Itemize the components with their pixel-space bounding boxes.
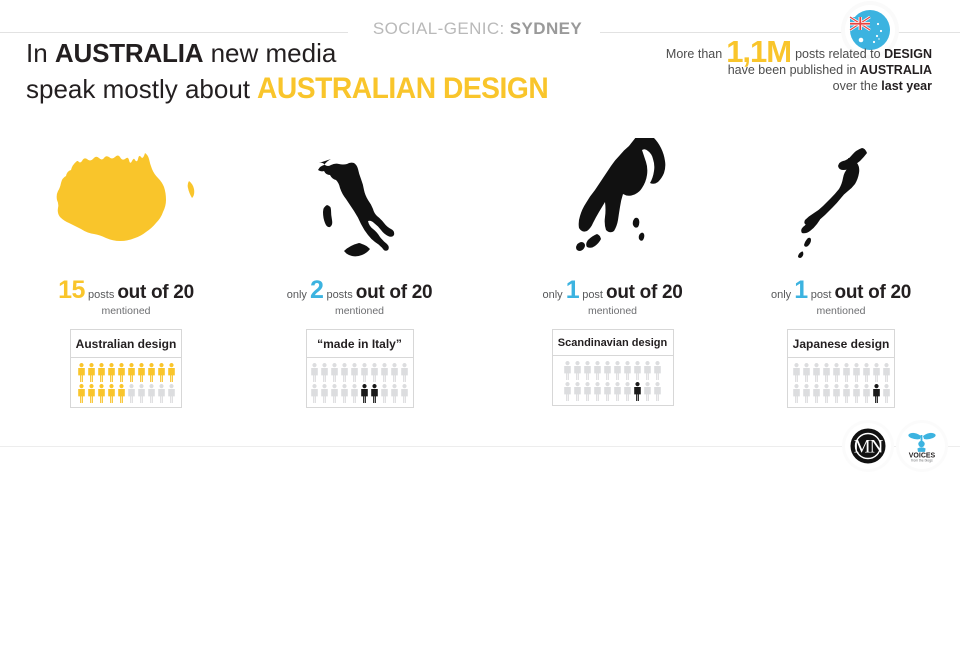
person-icon-highlighted <box>107 384 116 403</box>
person-icon <box>573 382 582 401</box>
person-icon <box>832 363 841 382</box>
person-icon <box>842 384 851 403</box>
person-icon <box>802 363 811 382</box>
pictogram-row <box>563 361 662 380</box>
pictogram-row <box>310 384 409 403</box>
only-label: only <box>771 289 794 301</box>
pictogram-grid <box>71 358 181 407</box>
person-icon <box>603 382 612 401</box>
headline-highlight: AUSTRALIAN DESIGN <box>257 72 548 106</box>
person-icon-highlighted <box>633 382 642 401</box>
person-icon <box>320 363 329 382</box>
kicker: SOCIAL-GENIC: SYDNEY <box>355 19 600 39</box>
person-icon-highlighted <box>117 384 126 403</box>
person-icon-highlighted <box>97 384 106 403</box>
count-value: 1 <box>794 276 807 304</box>
person-icon <box>593 361 602 380</box>
pictogram-box: “made in Italy” <box>306 329 414 408</box>
stat-line-1: More than1,1Mposts related to DESIGN <box>642 44 932 62</box>
person-icon <box>603 361 612 380</box>
map-container <box>510 128 715 268</box>
person-icon <box>882 363 891 382</box>
data-column-1: 15 posts out of 20mentionedAustralian de… <box>26 128 226 408</box>
person-icon <box>633 361 642 380</box>
person-icon <box>583 382 592 401</box>
out-of-label: out of 20 <box>356 282 432 303</box>
mentioned-label: mentioned <box>262 305 457 317</box>
out-of-label: out of 20 <box>117 282 193 303</box>
person-icon-highlighted <box>97 363 106 382</box>
pictogram-row <box>792 363 891 382</box>
headline-line-1: In AUSTRALIA new media <box>26 38 586 68</box>
pictogram-grid <box>788 358 894 407</box>
person-icon <box>137 384 146 403</box>
person-icon-highlighted <box>127 363 136 382</box>
person-icon <box>623 361 632 380</box>
pictogram-label: Australian design <box>71 330 181 358</box>
person-icon <box>812 384 821 403</box>
person-icon <box>563 361 572 380</box>
person-icon <box>563 382 572 401</box>
data-column-2: only 2 posts out of 20mentioned“made in … <box>262 128 457 408</box>
person-icon <box>792 363 801 382</box>
person-icon-highlighted <box>77 384 86 403</box>
count-line: only 2 posts out of 20 <box>262 278 457 303</box>
person-icon <box>400 363 409 382</box>
pictogram-label: Japanese design <box>788 330 894 358</box>
person-icon <box>822 384 831 403</box>
japan-map-icon <box>794 138 889 268</box>
person-icon <box>822 363 831 382</box>
stat-suffix-bold: DESIGN <box>884 47 932 61</box>
person-icon <box>872 363 881 382</box>
mentioned-label: mentioned <box>26 305 226 317</box>
person-icon <box>390 384 399 403</box>
out-of-label: out of 20 <box>606 282 682 303</box>
data-column-3: only 1 post out of 20mentionedScandinavi… <box>510 128 715 406</box>
person-icon <box>832 384 841 403</box>
person-icon <box>852 384 861 403</box>
page-title: In AUSTRALIA new media speak mostly abou… <box>26 38 586 106</box>
person-icon <box>320 384 329 403</box>
pictogram-label: Scandinavian design <box>553 330 673 356</box>
pictogram-box: Japanese design <box>787 329 895 408</box>
map-container <box>746 128 936 268</box>
header-rule-left <box>0 32 348 33</box>
person-icon <box>330 384 339 403</box>
person-icon <box>340 384 349 403</box>
map-container <box>262 128 457 268</box>
stat-prefix: More than <box>666 47 722 61</box>
person-icon-highlighted <box>147 363 156 382</box>
posts-word: posts <box>323 289 355 301</box>
pictogram-row <box>792 384 891 403</box>
person-icon <box>653 382 662 401</box>
only-label: only <box>542 289 565 301</box>
out-of-label: out of 20 <box>835 282 911 303</box>
person-icon-highlighted <box>87 384 96 403</box>
svg-text:from the blogs: from the blogs <box>911 459 933 463</box>
stat-suffix-pre: posts related to <box>795 47 884 61</box>
person-icon-highlighted <box>872 384 881 403</box>
data-column-4: only 1 post out of 20mentionedJapanese d… <box>746 128 936 408</box>
person-icon <box>862 363 871 382</box>
person-icon <box>862 384 871 403</box>
person-icon <box>380 363 389 382</box>
stat-l3-pre: over the <box>833 79 882 93</box>
person-icon <box>852 363 861 382</box>
stat-l2-pre: have been published in <box>728 63 860 77</box>
person-icon <box>802 384 811 403</box>
person-icon-highlighted <box>157 363 166 382</box>
stat-l3-bold: last year <box>881 79 932 93</box>
stat-line-3: over the last year <box>642 78 932 94</box>
person-icon-highlighted <box>167 363 176 382</box>
person-icon <box>350 363 359 382</box>
count-value: 2 <box>310 276 323 304</box>
count-line: only 1 post out of 20 <box>510 278 715 303</box>
mentioned-label: mentioned <box>746 305 936 317</box>
person-icon <box>623 382 632 401</box>
pictogram-grid <box>307 358 413 407</box>
person-icon-highlighted <box>117 363 126 382</box>
posts-word: post <box>808 289 835 301</box>
person-icon <box>882 384 891 403</box>
headline-l1-pre: In <box>26 38 55 68</box>
person-icon <box>340 363 349 382</box>
posts-word: posts <box>85 289 117 301</box>
italy-map-icon <box>305 143 415 268</box>
headline-l1-post: new media <box>203 38 336 68</box>
scandinavia-map-icon <box>555 138 670 268</box>
person-icon <box>330 363 339 382</box>
person-icon-highlighted <box>87 363 96 382</box>
count-line: only 1 post out of 20 <box>746 278 936 303</box>
infographic-canvas: SOCIAL-GENIC: SYDNEY In AUSTRALIA new me… <box>0 0 960 647</box>
pictogram-row <box>77 384 176 403</box>
person-icon <box>350 384 359 403</box>
person-icon <box>390 363 399 382</box>
count-value: 15 <box>58 276 85 304</box>
footer-rule <box>0 446 960 447</box>
person-icon <box>812 363 821 382</box>
mn-logo[interactable]: MN <box>845 423 891 469</box>
person-icon <box>842 363 851 382</box>
person-icon-highlighted <box>370 384 379 403</box>
person-icon <box>360 363 369 382</box>
headline-l2-pre: speak mostly about <box>26 74 257 104</box>
pictogram-box: Australian design <box>70 329 182 408</box>
person-icon <box>147 384 156 403</box>
person-icon <box>643 361 652 380</box>
pictogram-row <box>310 363 409 382</box>
voices-logo[interactable]: VOICES from the blogs <box>899 423 945 469</box>
stat-l2-bold: AUSTRALIA <box>860 63 932 77</box>
person-icon <box>380 384 389 403</box>
stat-summary: More than1,1Mposts related to DESIGN hav… <box>642 44 932 94</box>
only-label: only <box>287 289 310 301</box>
person-icon <box>127 384 136 403</box>
person-icon-highlighted <box>107 363 116 382</box>
person-icon <box>792 384 801 403</box>
headline-l1-bold: AUSTRALIA <box>55 38 203 68</box>
headline-line-2: speak mostly about AUSTRALIAN DESIGN <box>26 72 586 106</box>
pictogram-grid <box>553 356 673 405</box>
pictogram-box: Scandinavian design <box>552 329 674 406</box>
person-icon <box>310 363 319 382</box>
pictogram-row <box>77 363 176 382</box>
person-icon <box>157 384 166 403</box>
map-container <box>26 128 226 268</box>
stat-line-2: have been published in AUSTRALIA <box>642 62 932 78</box>
person-icon <box>593 382 602 401</box>
person-icon <box>573 361 582 380</box>
person-icon <box>613 361 622 380</box>
person-icon <box>310 384 319 403</box>
person-icon-highlighted <box>77 363 86 382</box>
person-icon <box>370 363 379 382</box>
header-rule-right <box>600 32 960 33</box>
person-icon <box>643 382 652 401</box>
person-icon-highlighted <box>360 384 369 403</box>
australia-map-icon <box>41 143 211 268</box>
count-line: 15 posts out of 20 <box>26 278 226 303</box>
pictogram-label: “made in Italy” <box>307 330 413 358</box>
count-value: 1 <box>566 276 579 304</box>
person-icon <box>583 361 592 380</box>
pictogram-row <box>563 382 662 401</box>
person-icon-highlighted <box>137 363 146 382</box>
kicker-city: SYDNEY <box>510 19 582 38</box>
person-icon <box>613 382 622 401</box>
person-icon <box>167 384 176 403</box>
posts-word: post <box>579 289 606 301</box>
kicker-prefix: SOCIAL-GENIC: <box>373 19 510 38</box>
person-icon <box>400 384 409 403</box>
person-icon <box>653 361 662 380</box>
mentioned-label: mentioned <box>510 305 715 317</box>
